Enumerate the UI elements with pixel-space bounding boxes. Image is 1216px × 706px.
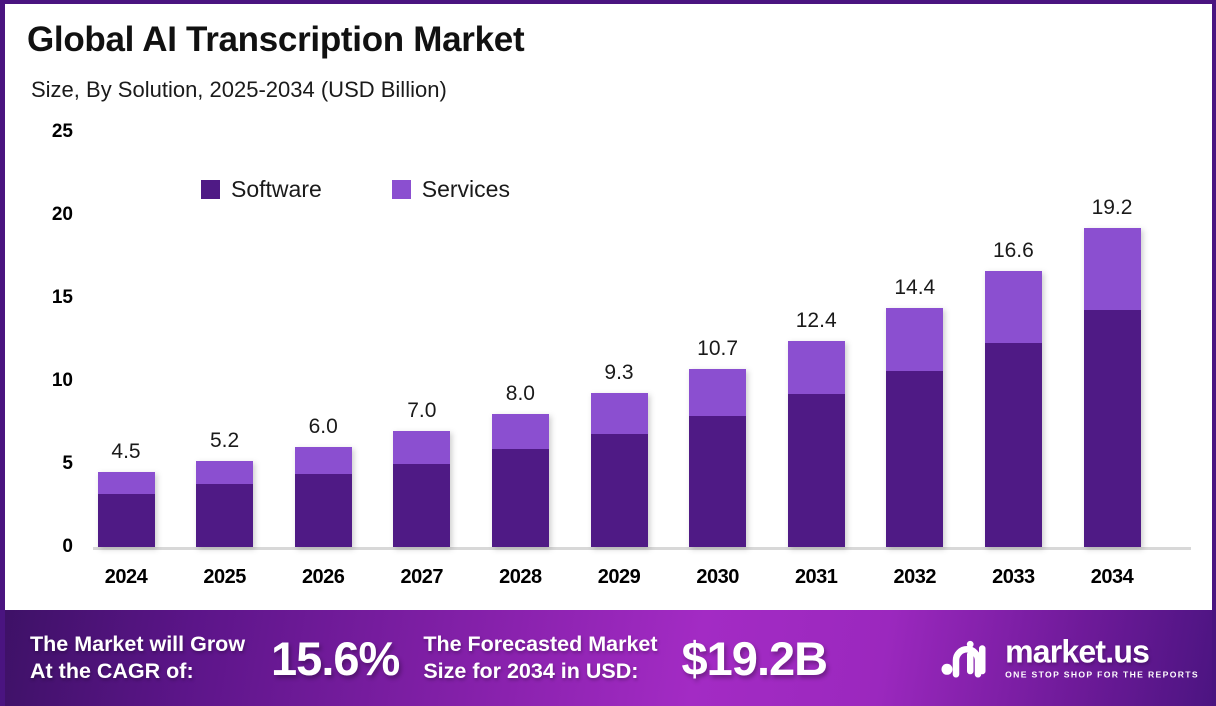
bar-stack[interactable] bbox=[393, 431, 450, 547]
brand-logo[interactable]: market.us ONE STOP SHOP FOR THE REPORTS bbox=[940, 636, 1199, 679]
bar-total-label: 4.5 bbox=[71, 440, 181, 464]
x-axis-tick-label: 2029 bbox=[564, 566, 674, 589]
bar-segment-software[interactable] bbox=[689, 416, 746, 547]
bar-stack[interactable] bbox=[492, 414, 549, 547]
bar-segment-services[interactable] bbox=[1084, 228, 1141, 309]
x-axis-tick-label: 2030 bbox=[663, 566, 773, 589]
x-axis-tick-label: 2024 bbox=[71, 566, 181, 589]
bar-segment-software[interactable] bbox=[393, 464, 450, 547]
bar-stack[interactable] bbox=[985, 271, 1042, 547]
infographic-root: Global AI Transcription Market Size, By … bbox=[0, 0, 1216, 706]
bar-stack[interactable] bbox=[591, 393, 648, 547]
bar-segment-software[interactable] bbox=[196, 484, 253, 547]
bar-total-label: 14.4 bbox=[860, 276, 970, 300]
bar-total-label: 8.0 bbox=[465, 382, 575, 406]
bar-stack[interactable] bbox=[196, 461, 253, 547]
bar-segment-services[interactable] bbox=[886, 308, 943, 371]
bar-stack[interactable] bbox=[689, 369, 746, 547]
x-axis-tick-label: 2026 bbox=[268, 566, 378, 589]
logo-name: market.us bbox=[1005, 636, 1199, 666]
bar-stack[interactable] bbox=[98, 472, 155, 547]
forecast-caption-line2: Size for 2034 in USD: bbox=[423, 658, 657, 685]
bar-stack[interactable] bbox=[886, 308, 943, 547]
bar-segment-software[interactable] bbox=[1084, 310, 1141, 547]
bar-segment-software[interactable] bbox=[295, 474, 352, 547]
x-axis-tick-label: 2031 bbox=[761, 566, 871, 589]
bar-total-label: 10.7 bbox=[663, 337, 773, 361]
cagr-caption: The Market will Grow At the CAGR of: bbox=[30, 631, 245, 684]
bar-segment-software[interactable] bbox=[886, 371, 943, 547]
bar-segment-services[interactable] bbox=[295, 447, 352, 474]
bar-segment-software[interactable] bbox=[591, 434, 648, 547]
cagr-value: 15.6% bbox=[271, 631, 399, 686]
bar-segment-services[interactable] bbox=[492, 414, 549, 449]
bar-segment-services[interactable] bbox=[98, 472, 155, 494]
bar-total-label: 6.0 bbox=[268, 415, 378, 439]
stacked-bar-chart: 0510152025 4.55.26.07.08.09.310.712.414.… bbox=[5, 4, 1216, 614]
x-axis-tick-label: 2033 bbox=[958, 566, 1068, 589]
logo-tagline: ONE STOP SHOP FOR THE REPORTS bbox=[1005, 670, 1199, 680]
market-us-logo-icon bbox=[940, 638, 996, 678]
logo-text: market.us ONE STOP SHOP FOR THE REPORTS bbox=[1005, 636, 1199, 679]
y-axis-tick-label: 0 bbox=[13, 536, 73, 558]
bar-total-label: 9.3 bbox=[564, 361, 674, 385]
bar-stack[interactable] bbox=[1084, 228, 1141, 547]
forecast-caption-line1: The Forecasted Market bbox=[423, 631, 657, 658]
bar-segment-software[interactable] bbox=[985, 343, 1042, 547]
y-axis-tick-label: 15 bbox=[13, 287, 73, 309]
cagr-caption-line1: The Market will Grow bbox=[30, 631, 245, 658]
bar-segment-services[interactable] bbox=[689, 369, 746, 415]
bar-segment-services[interactable] bbox=[591, 393, 648, 435]
bar-segment-services[interactable] bbox=[196, 461, 253, 484]
x-axis-tick-label: 2034 bbox=[1057, 566, 1167, 589]
forecast-caption: The Forecasted Market Size for 2034 in U… bbox=[423, 631, 657, 684]
bar-segment-software[interactable] bbox=[788, 394, 845, 547]
bar-segment-services[interactable] bbox=[393, 431, 450, 464]
y-axis-tick-label: 20 bbox=[13, 204, 73, 226]
y-axis-tick-label: 10 bbox=[13, 370, 73, 392]
bar-total-label: 16.6 bbox=[958, 239, 1068, 263]
bar-stack[interactable] bbox=[295, 447, 352, 547]
bar-stack[interactable] bbox=[788, 341, 845, 547]
x-axis-tick-label: 2028 bbox=[465, 566, 575, 589]
x-axis-tick-label: 2025 bbox=[170, 566, 280, 589]
bar-total-label: 19.2 bbox=[1057, 196, 1167, 220]
bar-segment-services[interactable] bbox=[985, 271, 1042, 342]
y-axis-tick-label: 5 bbox=[13, 453, 73, 475]
footer-band: The Market will Grow At the CAGR of: 15.… bbox=[0, 610, 1216, 706]
x-axis-line bbox=[93, 547, 1191, 550]
cagr-caption-line2: At the CAGR of: bbox=[30, 658, 245, 685]
bar-segment-software[interactable] bbox=[98, 494, 155, 547]
forecast-value: $19.2B bbox=[682, 631, 828, 686]
x-axis-tick-label: 2032 bbox=[860, 566, 970, 589]
bar-segment-software[interactable] bbox=[492, 449, 549, 547]
x-axis-tick-label: 2027 bbox=[367, 566, 477, 589]
y-axis-tick-label: 25 bbox=[13, 121, 73, 143]
bar-total-label: 7.0 bbox=[367, 399, 477, 423]
bar-segment-services[interactable] bbox=[788, 341, 845, 394]
bar-total-label: 12.4 bbox=[761, 309, 871, 333]
bar-total-label: 5.2 bbox=[170, 429, 280, 453]
